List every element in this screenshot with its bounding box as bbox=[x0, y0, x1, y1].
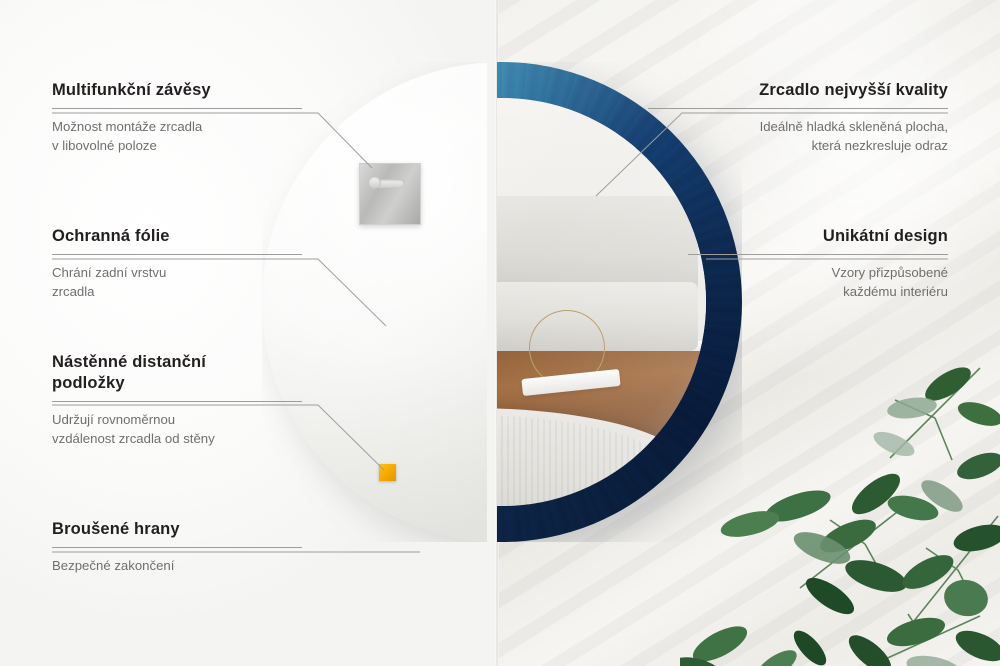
callout-rule bbox=[648, 108, 948, 109]
callout-description: Vzory přizpůsobené každému interiéru bbox=[688, 264, 948, 301]
wall-spacer-pad-icon bbox=[379, 464, 396, 481]
callout-description: Bezpečné zakončení bbox=[52, 557, 302, 576]
callout-rule bbox=[52, 547, 302, 548]
callout-rule bbox=[52, 401, 302, 402]
callout-highest-quality-mirror: Zrcadlo nejvyšší kvality Ideálně hladká … bbox=[648, 80, 948, 156]
callout-unique-design: Unikátní design Vzory přizpůsobené každé… bbox=[688, 226, 948, 302]
callout-wall-spacers: Nástěnné distanční podložky Udržují rovn… bbox=[52, 352, 302, 449]
callout-title: Multifunkční závěsy bbox=[52, 80, 302, 101]
callout-rule bbox=[52, 254, 302, 255]
callout-title: Zrcadlo nejvyšší kvality bbox=[648, 80, 948, 101]
keyhole-slot-icon bbox=[371, 179, 405, 188]
callout-rule bbox=[688, 254, 948, 255]
callout-title: Nástěnné distanční podložky bbox=[52, 352, 302, 394]
infographic-canvas: Multifunkční závěsy Možnost montáže zrca… bbox=[0, 0, 1000, 666]
callout-description: Udržují rovnoměrnou vzdálenost zrcadla o… bbox=[52, 411, 302, 448]
hanger-plate-icon bbox=[359, 163, 421, 225]
foliage-decoration bbox=[680, 348, 1000, 666]
callout-description: Chrání zadní vrstvu zrcadla bbox=[52, 264, 302, 301]
callout-title: Unikátní design bbox=[688, 226, 948, 247]
callout-description: Ideálně hladká skleněná plocha, která ne… bbox=[648, 118, 948, 155]
callout-multifunctional-hangers: Multifunkční závěsy Možnost montáže zrca… bbox=[52, 80, 302, 156]
callout-description: Možnost montáže zrcadla v libovolné polo… bbox=[52, 118, 302, 155]
side-table-top bbox=[522, 369, 621, 396]
callout-title: Ochranná fólie bbox=[52, 226, 302, 247]
callout-protective-film: Ochranná fólie Chrání zadní vrstvu zrcad… bbox=[52, 226, 302, 302]
callout-ground-edges: Broušené hrany Bezpečné zakončení bbox=[52, 519, 302, 576]
callout-rule bbox=[52, 108, 302, 109]
callout-title: Broušené hrany bbox=[52, 519, 302, 540]
